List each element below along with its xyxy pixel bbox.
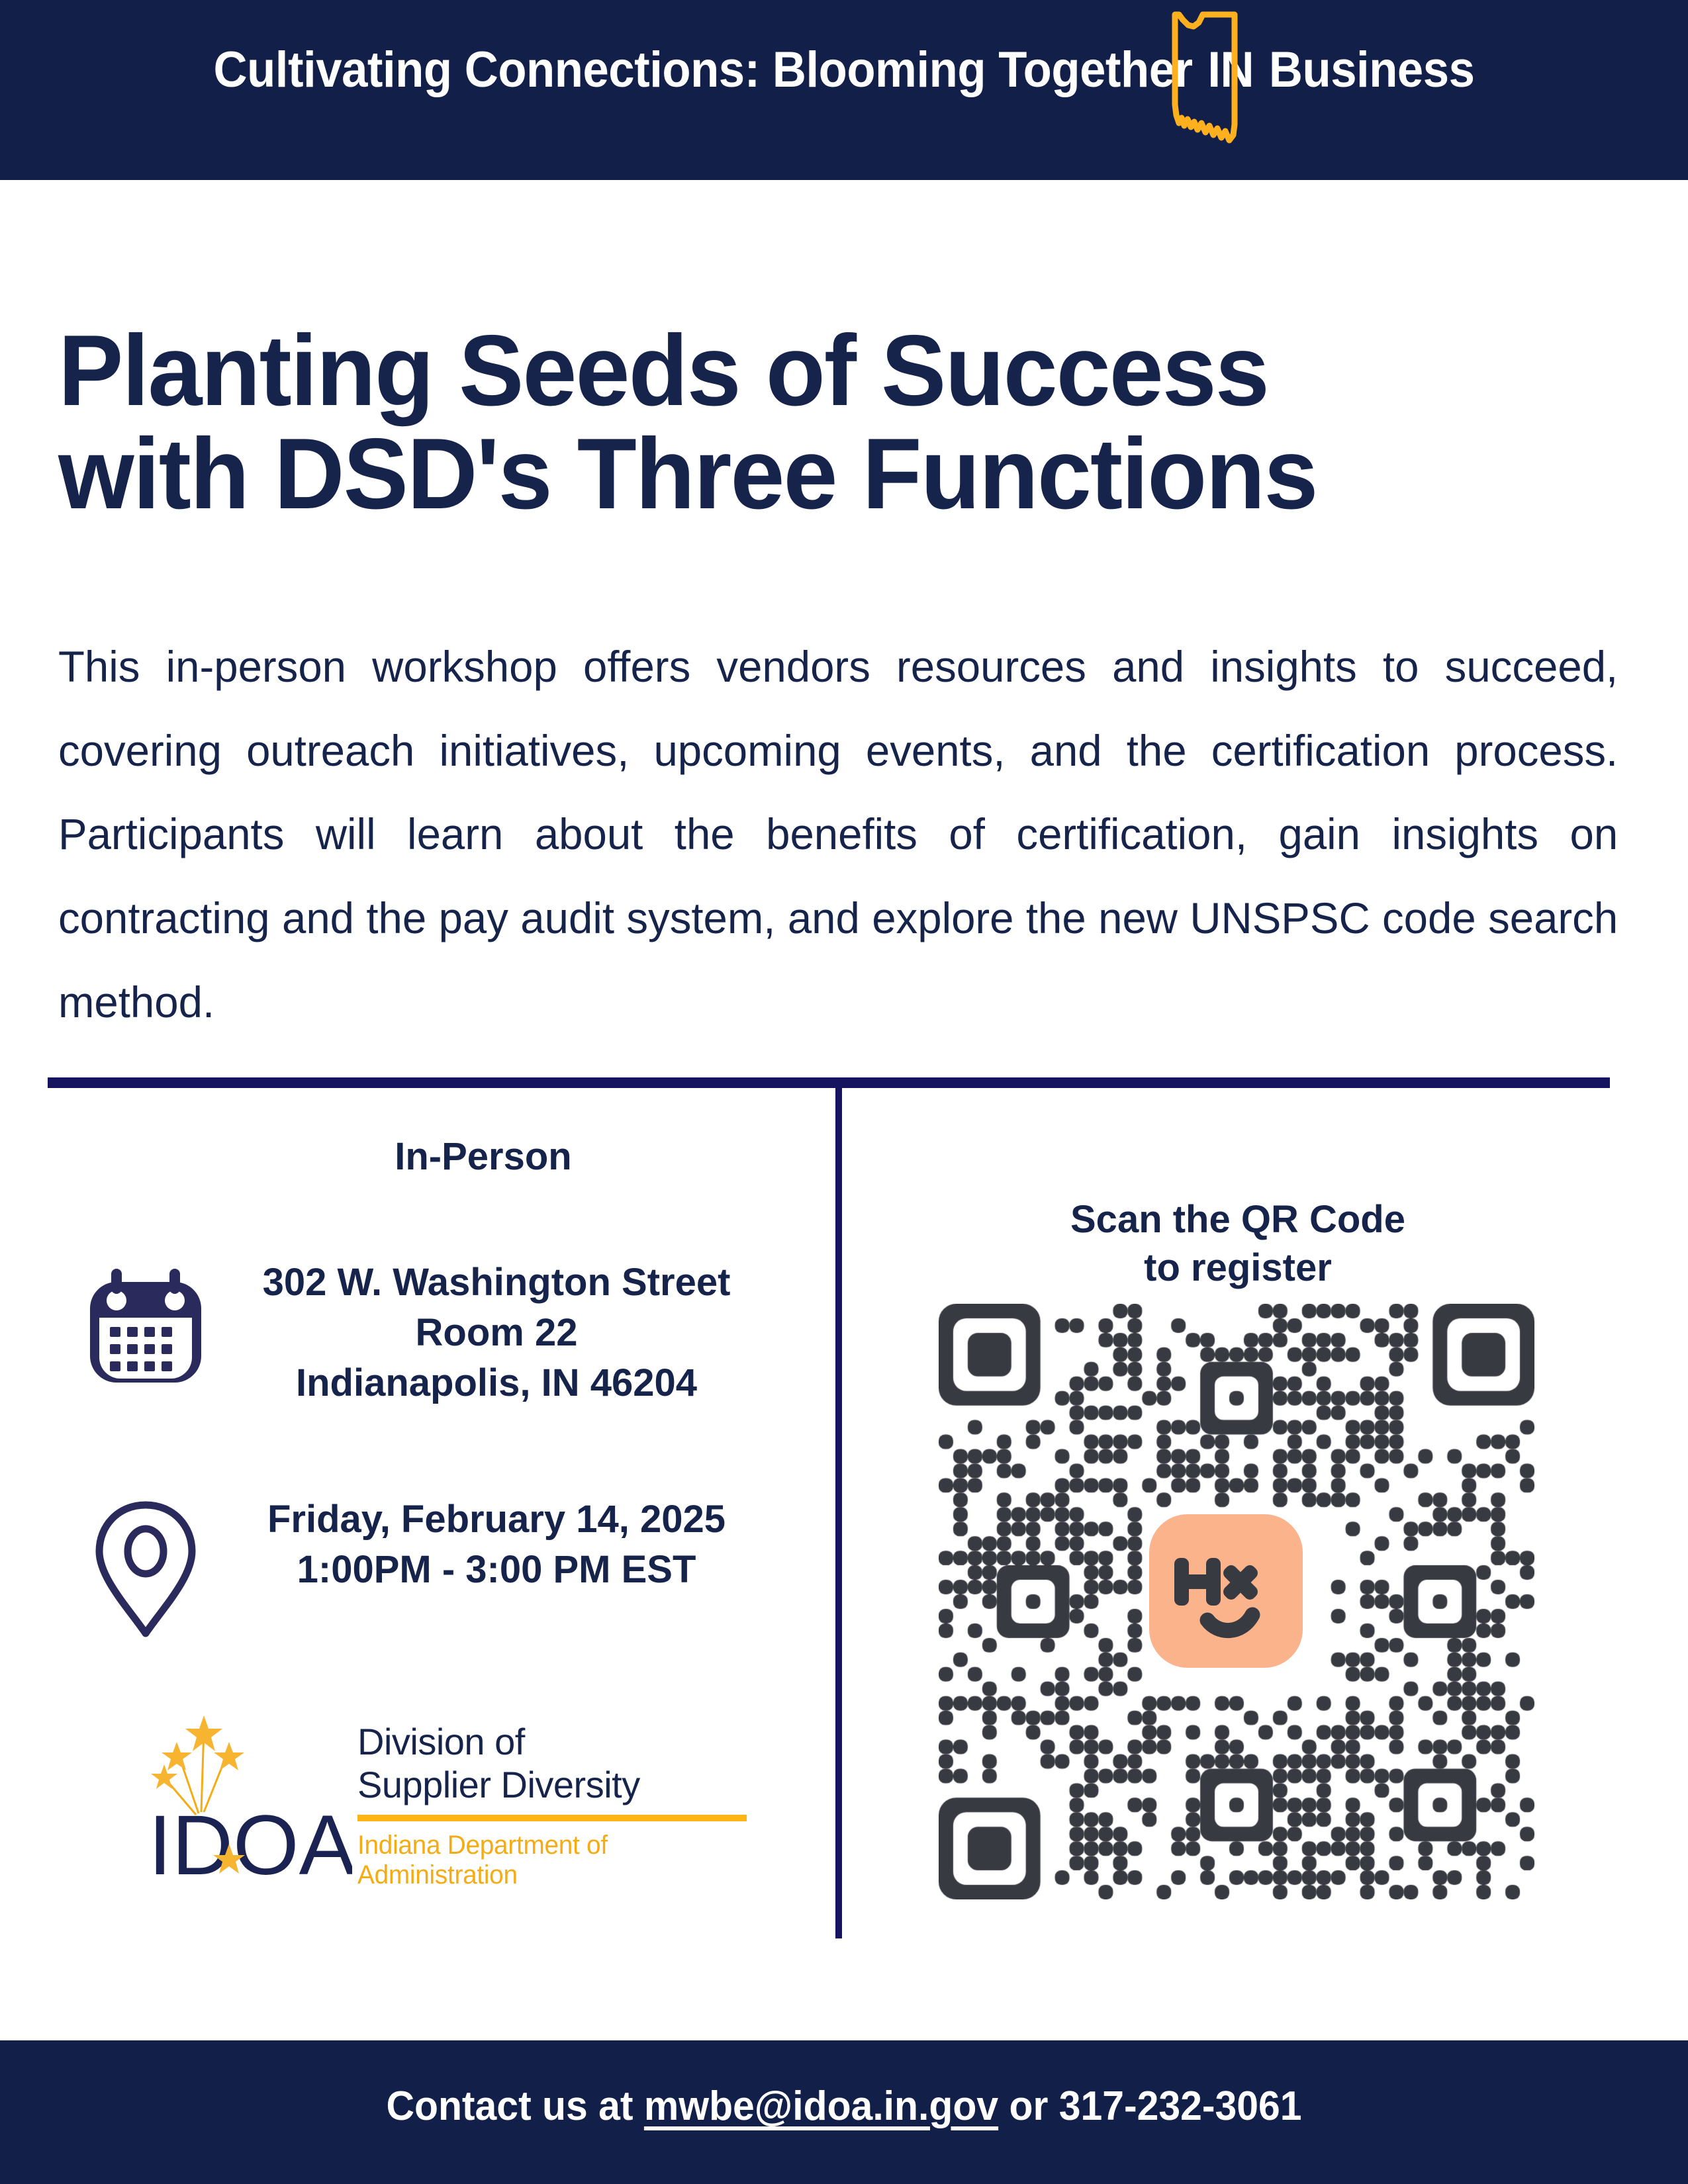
event-mode-label: In-Person — [199, 1134, 768, 1179]
event-address: 302 W. Washington Street Room 22 Indiana… — [225, 1257, 768, 1408]
horizontal-divider — [48, 1077, 1610, 1088]
header-title: Cultivating Connections: Blooming Togeth… — [59, 41, 1629, 99]
footer-email-link[interactable]: mwbe@idoa.in.gov — [644, 2083, 998, 2129]
footer-prefix: Contact us at — [386, 2083, 643, 2129]
event-datetime: Friday, February 14, 2025 1:00PM - 3:00 … — [225, 1494, 768, 1595]
qr-caption: Scan the QR Code to register — [854, 1195, 1622, 1292]
footer-suffix: or 317-232-3061 — [998, 2083, 1301, 2129]
event-date: Friday, February 14, 2025 — [225, 1494, 768, 1545]
footer-banner: Contact us at mwbe@idoa.in.gov or 317-23… — [0, 2040, 1688, 2184]
address-line-3: Indianapolis, IN 46204 — [225, 1358, 768, 1408]
page-title-line-2: with DSD's Three Functions — [58, 422, 1599, 526]
page-title: Planting Seeds of Success with DSD's Thr… — [58, 319, 1599, 526]
vertical-divider — [835, 1088, 842, 1938]
svg-text:IDOA: IDOA — [148, 1798, 352, 1893]
location-pin-icon — [87, 1500, 204, 1639]
header-title-in: IN — [1193, 41, 1269, 99]
idoa-line-2: Supplier Diversity — [357, 1764, 768, 1807]
qr-caption-line-1: Scan the QR Code — [854, 1195, 1622, 1244]
idoa-logo-text: Division of Supplier Diversity Indiana D… — [357, 1721, 768, 1890]
qr-center-logo-icon — [1149, 1514, 1303, 1668]
page-title-line-1: Planting Seeds of Success — [58, 319, 1599, 423]
header-title-after: Business — [1269, 42, 1475, 98]
footer-contact: Contact us at mwbe@idoa.in.gov or 317-23… — [42, 2083, 1646, 2130]
address-line-1: 302 W. Washington Street — [225, 1257, 768, 1308]
description-paragraph: This in-person workshop offers vendors r… — [58, 625, 1618, 1044]
event-time: 1:00PM - 3:00 PM EST — [225, 1545, 768, 1595]
calendar-icon — [79, 1259, 212, 1392]
qr-caption-line-2: to register — [854, 1244, 1622, 1292]
idoa-gold-rule — [357, 1815, 747, 1821]
idoa-logo: IDOA Division of Supplier Diversity Indi… — [147, 1701, 769, 1893]
idoa-logo-mark: IDOA — [147, 1701, 352, 1893]
address-line-2: Room 22 — [225, 1308, 768, 1358]
header-banner: Cultivating Connections: Blooming Togeth… — [0, 0, 1688, 180]
header-title-before: Cultivating Connections: Blooming Togeth… — [214, 42, 1193, 98]
idoa-line-1: Division of — [357, 1721, 768, 1764]
idoa-line-3: Indiana Department of Administration — [357, 1831, 755, 1890]
